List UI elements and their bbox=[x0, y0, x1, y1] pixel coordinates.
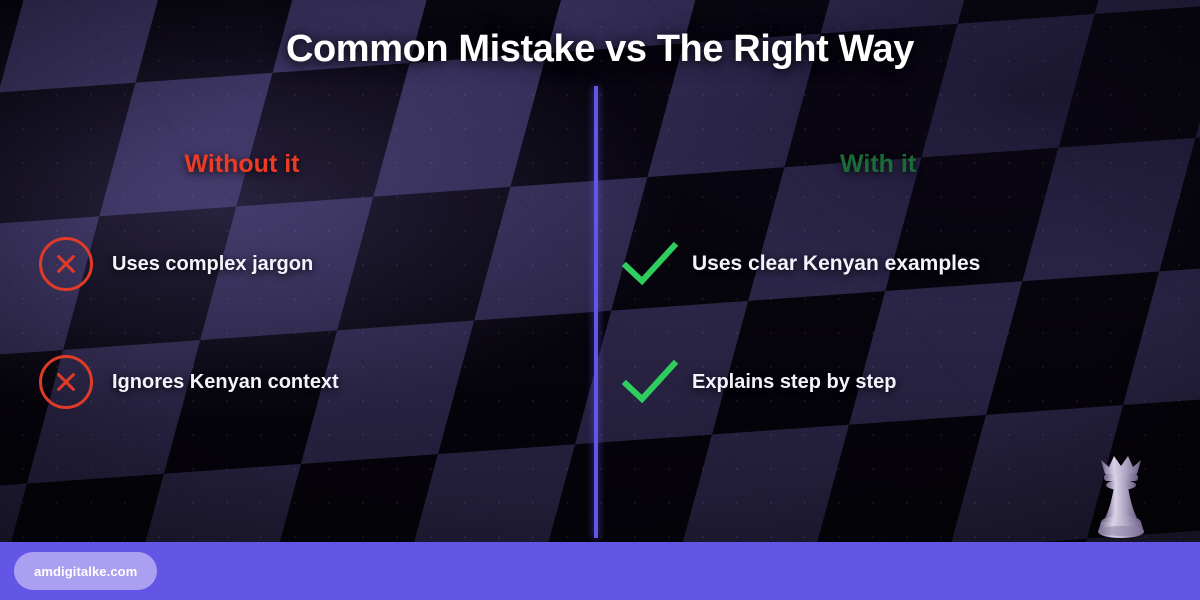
list-item-label: Uses clear Kenyan examples bbox=[692, 252, 980, 276]
website-badge[interactable]: amdigitalke.com bbox=[14, 552, 157, 590]
list-item: Uses complex jargon bbox=[12, 205, 572, 323]
x-circle-icon bbox=[34, 232, 98, 296]
list-item: Explains step by step bbox=[610, 323, 1170, 441]
footer-bar: amdigitalke.com bbox=[0, 542, 1200, 600]
page-title: Common Mistake vs The Right Way bbox=[0, 28, 1200, 71]
column-heading-without: Without it bbox=[12, 150, 572, 179]
website-badge-label: amdigitalke.com bbox=[34, 564, 137, 579]
slide-canvas: Common Mistake vs The Right Way Without … bbox=[0, 0, 1200, 600]
column-with: With it Uses clear Kenyan examples Expla… bbox=[610, 150, 1170, 441]
list-item-label: Ignores Kenyan context bbox=[112, 371, 339, 394]
list-item-label: Explains step by step bbox=[692, 371, 897, 394]
column-heading-with: With it bbox=[610, 150, 1170, 179]
check-icon bbox=[618, 350, 682, 414]
list-item: Uses clear Kenyan examples bbox=[610, 205, 1170, 323]
list-with: Uses clear Kenyan examples Explains step… bbox=[610, 205, 1170, 441]
list-item: Ignores Kenyan context bbox=[12, 323, 572, 441]
list-without: Uses complex jargon Ignores Kenyan conte… bbox=[12, 205, 572, 441]
check-icon bbox=[618, 232, 682, 296]
list-item-label: Uses complex jargon bbox=[112, 253, 313, 276]
x-circle-icon bbox=[34, 350, 98, 414]
chess-queen-icon bbox=[1092, 452, 1150, 540]
column-without: Without it Uses complex jargon Ignores K… bbox=[12, 150, 572, 441]
column-divider bbox=[594, 86, 598, 538]
